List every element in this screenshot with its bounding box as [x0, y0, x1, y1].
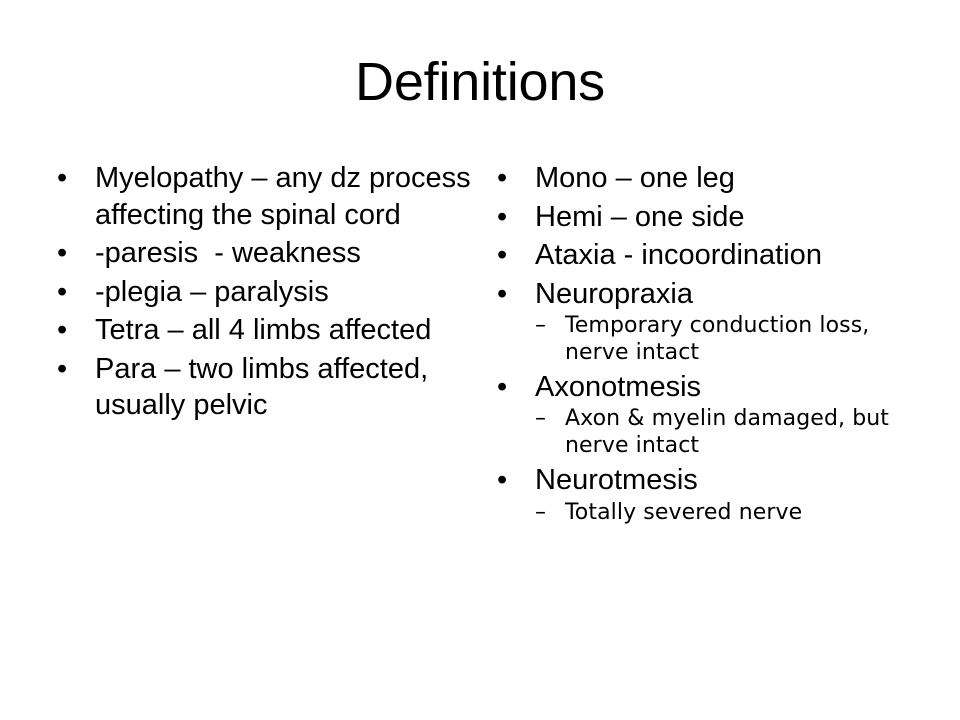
bullet-item: •Mono – one leg	[486, 160, 926, 197]
bullet-text: -plegia – paralysis	[95, 276, 329, 308]
bullet-marker-icon: •	[497, 199, 507, 236]
bullet-item: •Neuropraxia–Temporary conduction loss, …	[486, 276, 926, 367]
bullet-text: Ataxia - incoordination	[535, 239, 822, 271]
bullet-list-left: •Myelopathy – any dz process affecting t…	[46, 160, 476, 424]
bullet-text: Neuropraxia	[535, 278, 693, 310]
bullet-marker-icon: •	[497, 276, 507, 313]
bullet-text: Neurotmesis	[535, 464, 698, 496]
bullet-marker-icon: •	[497, 369, 507, 406]
sub-bullet-text: Totally severed nerve	[565, 500, 802, 525]
bullet-item: •Myelopathy – any dz process affecting t…	[46, 160, 476, 233]
sub-bullet-text: Axon & myelin damaged, but nerve intact	[565, 406, 896, 458]
bullet-marker-icon: •	[57, 160, 67, 197]
bullet-marker-icon: •	[57, 274, 67, 311]
bullet-item: •Hemi – one side	[486, 199, 926, 236]
sub-bullet-marker-icon: –	[535, 406, 546, 433]
sub-bullet-group: –Totally severed nerve	[535, 500, 926, 527]
bullet-item: •Ataxia - incoordination	[486, 237, 926, 274]
bullet-text: Axonotmesis	[535, 371, 701, 403]
sub-bullet-list: –Axon & myelin damaged, but nerve intact	[535, 406, 926, 460]
sub-bullet-marker-icon: –	[535, 500, 546, 527]
content-column-left: •Myelopathy – any dz process affecting t…	[46, 160, 476, 426]
sub-bullet-marker-icon: –	[535, 313, 546, 340]
sub-bullet-group: –Axon & myelin damaged, but nerve intact	[535, 406, 926, 460]
slide-body: •Myelopathy – any dz process affecting t…	[0, 160, 960, 630]
bullet-marker-icon: •	[57, 351, 67, 388]
sub-bullet-group: –Temporary conduction loss, nerve intact	[535, 313, 926, 367]
sub-bullet-text: Temporary conduction loss, nerve intact	[565, 313, 877, 365]
sub-bullet-item: –Totally severed nerve	[535, 500, 926, 527]
bullet-text: Para – two limbs affected, usually pelvi…	[95, 353, 436, 422]
sub-bullet-item: –Temporary conduction loss, nerve intact	[535, 313, 926, 367]
bullet-marker-icon: •	[497, 160, 507, 197]
bullet-marker-icon: •	[497, 237, 507, 274]
bullet-list-right: •Mono – one leg•Hemi – one side•Ataxia -…	[486, 160, 926, 526]
bullet-marker-icon: •	[57, 312, 67, 349]
bullet-item: •Neurotmesis–Totally severed nerve	[486, 462, 926, 526]
content-column-right: •Mono – one leg•Hemi – one side•Ataxia -…	[486, 160, 926, 528]
bullet-text: Mono – one leg	[535, 162, 735, 194]
bullet-text: Tetra – all 4 limbs affected	[95, 314, 431, 346]
bullet-text: Myelopathy – any dz process affecting th…	[95, 162, 479, 231]
bullet-item: •-plegia – paralysis	[46, 274, 476, 311]
bullet-item: •Para – two limbs affected, usually pelv…	[46, 351, 476, 424]
sub-bullet-item: –Axon & myelin damaged, but nerve intact	[535, 406, 926, 460]
sub-bullet-list: –Temporary conduction loss, nerve intact	[535, 313, 926, 367]
bullet-marker-icon: •	[57, 235, 67, 272]
bullet-text: Hemi – one side	[535, 201, 745, 233]
sub-bullet-list: –Totally severed nerve	[535, 500, 926, 527]
bullet-marker-icon: •	[497, 462, 507, 499]
bullet-text: -paresis - weakness	[95, 237, 361, 269]
bullet-item: •Tetra – all 4 limbs affected	[46, 312, 476, 349]
page-title: Definitions	[0, 54, 960, 111]
bullet-item: •Axonotmesis–Axon & myelin damaged, but …	[486, 369, 926, 460]
slide-canvas: Definitions •Myelopathy – any dz process…	[0, 0, 960, 720]
bullet-item: •-paresis - weakness	[46, 235, 476, 272]
